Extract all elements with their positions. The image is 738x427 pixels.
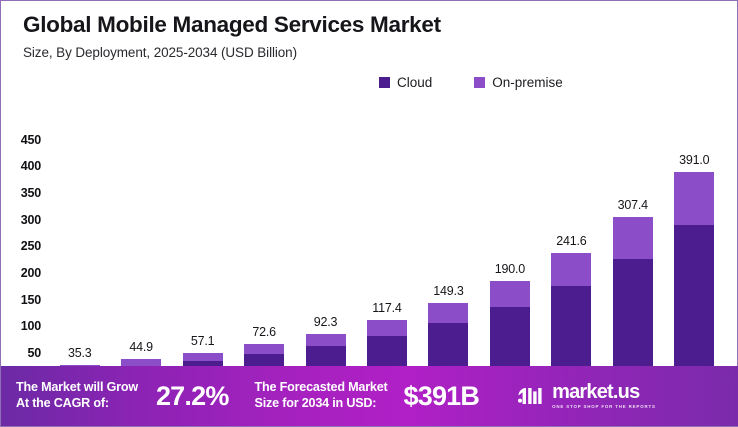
bar-segment-on-premise[interactable] bbox=[183, 353, 223, 361]
bar-group[interactable]: 92.3 bbox=[306, 140, 346, 384]
bar-value-label: 391.0 bbox=[679, 153, 709, 167]
cagr-value: 27.2% bbox=[156, 381, 229, 412]
bar-value-label: 117.4 bbox=[372, 301, 401, 315]
y-axis-tick: 150 bbox=[21, 293, 41, 307]
bar-group[interactable]: 149.3 bbox=[428, 140, 468, 384]
forecast-caption: The Forecasted Market Size for 2034 in U… bbox=[255, 380, 388, 411]
bar-segment-on-premise[interactable] bbox=[674, 172, 714, 225]
y-axis-tick: 450 bbox=[21, 133, 41, 147]
brand-logo[interactable]: market.us ONE STOP SHOP FOR THE REPORTS bbox=[515, 382, 656, 409]
y-axis-tick: 200 bbox=[21, 266, 41, 280]
forecast-block: The Forecasted Market Size for 2034 in U… bbox=[255, 380, 480, 411]
logo-name: market.us bbox=[552, 382, 656, 402]
bar-stack[interactable] bbox=[674, 172, 714, 384]
bar-series-container: 35.344.957.172.692.3117.4149.3190.0241.6… bbox=[49, 140, 725, 384]
bar-group[interactable]: 72.6 bbox=[244, 140, 284, 384]
footer-banner: The Market will Grow At the CAGR of: 27.… bbox=[1, 366, 738, 426]
cagr-block: The Market will Grow At the CAGR of: 27.… bbox=[16, 380, 229, 411]
bar-segment-on-premise[interactable] bbox=[613, 217, 653, 259]
bar-group[interactable]: 35.3 bbox=[60, 140, 100, 384]
bar-group[interactable]: 44.9 bbox=[121, 140, 161, 384]
bar-group[interactable]: 190.0 bbox=[490, 140, 530, 384]
bar-segment-on-premise[interactable] bbox=[428, 303, 468, 324]
forecast-value: $391B bbox=[404, 381, 480, 412]
y-axis-tick: 250 bbox=[21, 239, 41, 253]
bar-segment-on-premise[interactable] bbox=[551, 253, 591, 286]
chart-card: Global Mobile Managed Services Market Si… bbox=[0, 0, 738, 427]
logo-tagline: ONE STOP SHOP FOR THE REPORTS bbox=[552, 405, 656, 409]
bar-segment-on-premise[interactable] bbox=[490, 281, 530, 307]
bar-segment-on-premise[interactable] bbox=[367, 320, 407, 336]
bar-value-label: 57.1 bbox=[191, 334, 215, 348]
bar-group[interactable]: 391.0 bbox=[674, 140, 714, 384]
bar-value-label: 149.3 bbox=[433, 284, 463, 298]
page-title: Global Mobile Managed Services Market bbox=[23, 13, 737, 38]
y-axis-tick: 100 bbox=[21, 319, 41, 333]
bar-stack[interactable] bbox=[613, 217, 653, 384]
chart-header: Global Mobile Managed Services Market Si… bbox=[1, 1, 737, 62]
bar-value-label: 35.3 bbox=[68, 346, 92, 360]
y-axis-tick: 300 bbox=[21, 213, 41, 227]
y-axis: 050100150200250300350400450 bbox=[1, 132, 45, 388]
y-axis-tick: 400 bbox=[21, 159, 41, 173]
bar-value-label: 44.9 bbox=[129, 340, 153, 354]
bar-value-label: 241.6 bbox=[556, 234, 586, 248]
y-axis-tick: 350 bbox=[21, 186, 41, 200]
y-axis-tick: 50 bbox=[27, 346, 41, 360]
bar-group[interactable]: 241.6 bbox=[551, 140, 591, 384]
chart-subtitle: Size, By Deployment, 2025-2034 (USD Bill… bbox=[23, 45, 737, 60]
bar-segment-on-premise[interactable] bbox=[306, 334, 346, 347]
bar-stack[interactable] bbox=[551, 253, 591, 384]
bar-group[interactable]: 57.1 bbox=[183, 140, 223, 384]
cagr-caption: The Market will Grow At the CAGR of: bbox=[16, 380, 138, 411]
bar-value-label: 92.3 bbox=[314, 315, 338, 329]
bar-group[interactable]: 117.4 bbox=[367, 140, 407, 384]
bar-group[interactable]: 307.4 bbox=[613, 140, 653, 384]
bar-value-label: 307.4 bbox=[618, 198, 648, 212]
market-us-logo-icon bbox=[515, 384, 545, 408]
bar-segment-on-premise[interactable] bbox=[244, 344, 284, 354]
bar-value-label: 72.6 bbox=[252, 325, 276, 339]
bar-value-label: 190.0 bbox=[495, 262, 525, 276]
bar-segment-cloud[interactable] bbox=[674, 225, 714, 384]
